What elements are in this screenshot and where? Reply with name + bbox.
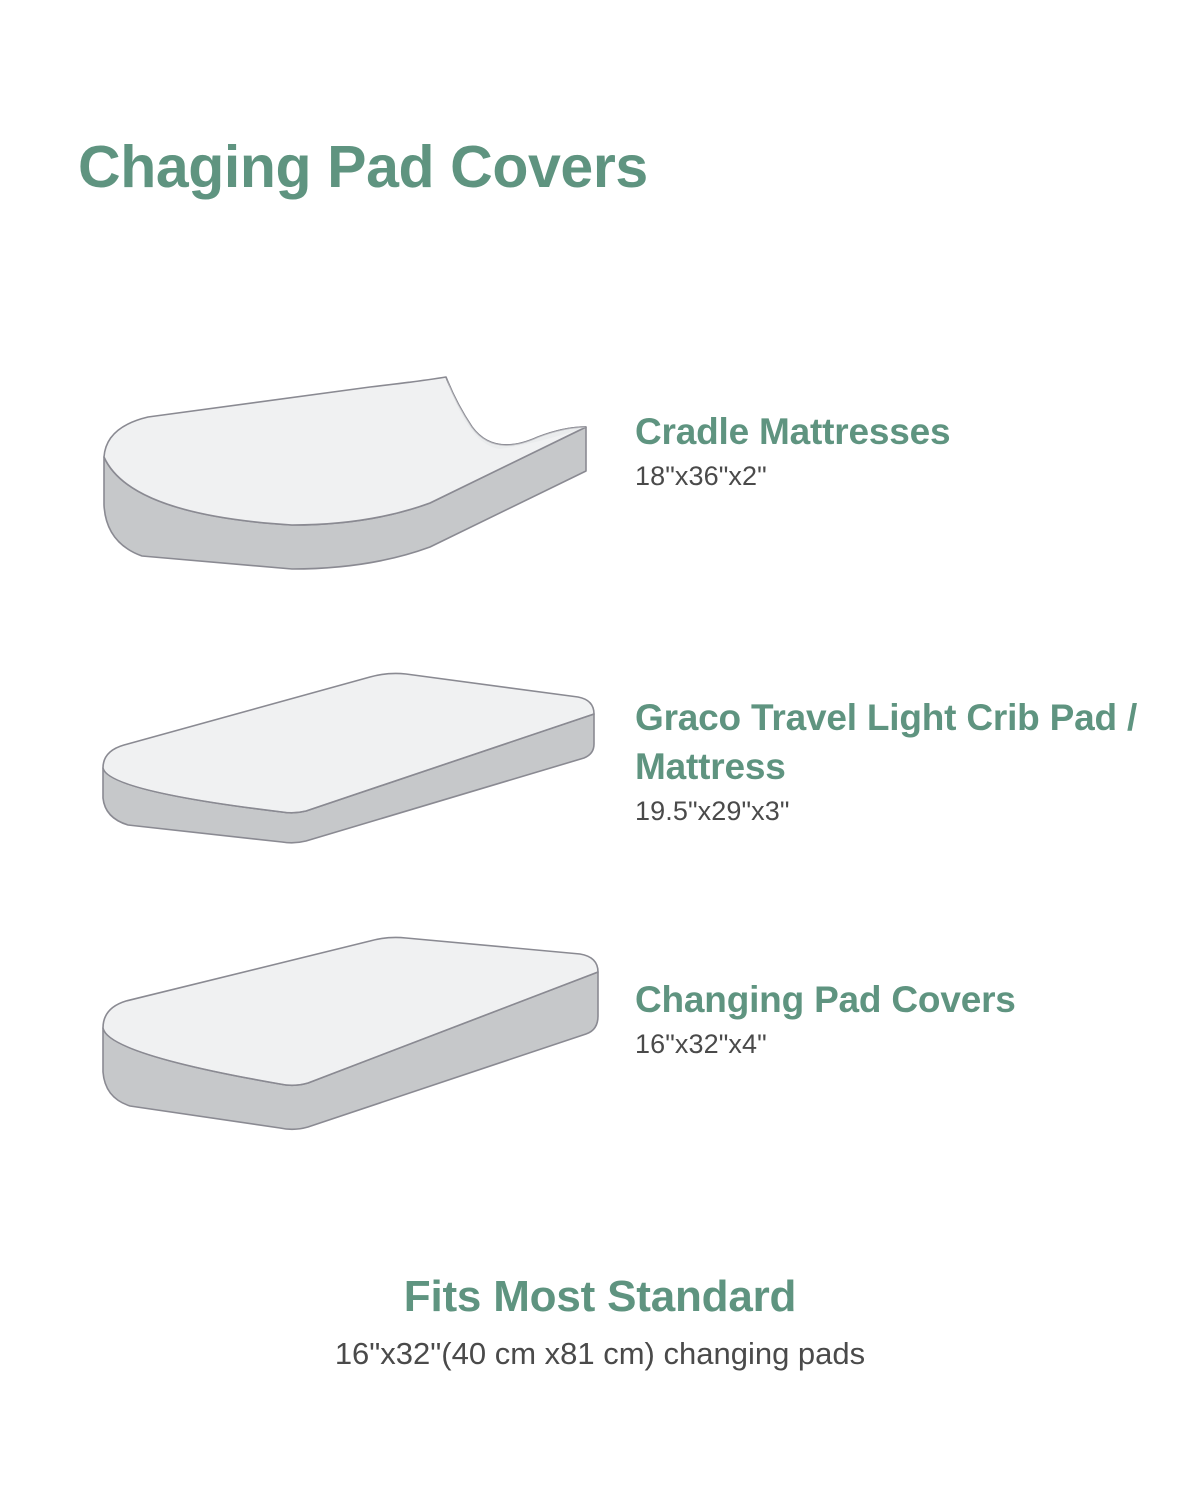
product-dimensions: 18"x36"x2" [635, 460, 1165, 494]
product-title: Changing Pad Covers [635, 975, 1165, 1024]
product-row: Cradle Mattresses 18"x36"x2" [0, 365, 1200, 595]
thick-flat-mattress-illustration [70, 930, 615, 1155]
thin-flat-mattress-illustration [70, 655, 615, 880]
product-row: Graco Travel Light Crib Pad / Mattress 1… [0, 655, 1200, 870]
product-dimensions: 19.5"x29"x3" [635, 795, 1165, 829]
page-title: Chaging Pad Covers [78, 137, 648, 199]
contoured-changing-pad-illustration [70, 365, 615, 590]
footer-title: Fits Most Standard [0, 1272, 1200, 1323]
product-title: Cradle Mattresses [635, 407, 1165, 456]
product-row: Changing Pad Covers 16"x32"x4" [0, 930, 1200, 1145]
infographic-page: Chaging Pad Covers Cradle Mattresses 18"… [0, 0, 1200, 1500]
footer-subtitle: 16"x32"(40 cm x81 cm) changing pads [0, 1335, 1200, 1372]
product-labels: Changing Pad Covers 16"x32"x4" [635, 975, 1165, 1062]
product-labels: Graco Travel Light Crib Pad / Mattress 1… [635, 693, 1165, 829]
product-dimensions: 16"x32"x4" [635, 1028, 1165, 1062]
product-title: Graco Travel Light Crib Pad / Mattress [635, 693, 1165, 791]
footer: Fits Most Standard 16"x32"(40 cm x81 cm)… [0, 1272, 1200, 1372]
product-labels: Cradle Mattresses 18"x36"x2" [635, 407, 1165, 494]
